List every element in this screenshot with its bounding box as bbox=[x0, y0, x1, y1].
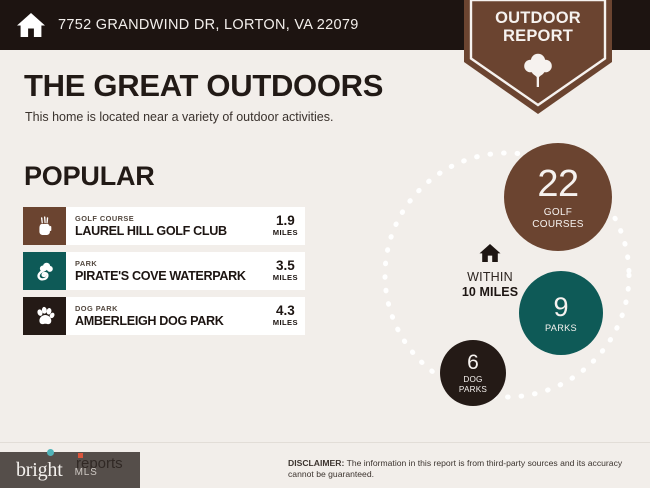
list-item-distance-unit: MILES bbox=[273, 318, 298, 328]
list-item-icon-box bbox=[23, 297, 66, 335]
footer-divider bbox=[0, 442, 650, 443]
list-item-distance-value: 4.3 bbox=[273, 304, 298, 318]
list-item-distance-value: 3.5 bbox=[273, 259, 298, 273]
list-item[interactable]: GOLF COURSE LAUREL HILL GOLF CLUB 1.9 MI… bbox=[23, 207, 305, 245]
golf-bag-icon bbox=[34, 215, 56, 237]
list-item-category: PARK bbox=[75, 259, 270, 269]
popular-list: GOLF COURSE LAUREL HILL GOLF CLUB 1.9 MI… bbox=[23, 207, 305, 342]
list-item-distance: 4.3 MILES bbox=[270, 304, 298, 328]
stat-count: 6 bbox=[467, 352, 479, 374]
stat-label: PARKS bbox=[545, 323, 577, 334]
stat-label-line1: DOG bbox=[459, 375, 487, 385]
home-icon bbox=[479, 243, 501, 263]
logo-suffix: MLS bbox=[75, 467, 98, 478]
list-item-category: DOG PARK bbox=[75, 304, 270, 314]
list-item-distance: 3.5 MILES bbox=[270, 259, 298, 283]
stat-label: GOLF COURSES bbox=[532, 207, 584, 231]
list-item-icon-box bbox=[23, 207, 66, 245]
logo-wordmark: bright bbox=[16, 459, 63, 482]
disclaimer-label: DISCLAIMER: bbox=[288, 458, 344, 468]
list-item-distance-value: 1.9 bbox=[273, 214, 298, 228]
stat-count: 9 bbox=[553, 293, 568, 321]
stat-label: DOG PARKS bbox=[459, 375, 487, 394]
logo-trademark-icon bbox=[78, 453, 83, 458]
list-item-name: AMBERLEIGH DOG PARK bbox=[75, 314, 270, 329]
list-item-distance-unit: MILES bbox=[273, 273, 298, 283]
stat-bubble-dog-parks[interactable]: 6 DOG PARKS bbox=[440, 340, 506, 406]
outdoor-report-badge: OUTDOOR REPORT bbox=[462, 0, 614, 116]
list-item-body: DOG PARK AMBERLEIGH DOG PARK 4.3 MILES bbox=[66, 297, 305, 335]
stat-label-line1: PARKS bbox=[545, 323, 577, 334]
stat-bubble-golf-courses[interactable]: 22 GOLF COURSES bbox=[504, 143, 612, 251]
list-item-name: PIRATE'S COVE WATERPARK bbox=[75, 269, 270, 284]
page-title: THE GREAT OUTDOORS bbox=[24, 68, 383, 104]
park-tree-icon bbox=[34, 260, 56, 282]
list-item[interactable]: DOG PARK AMBERLEIGH DOG PARK 4.3 MILES bbox=[23, 297, 305, 335]
logo-dot-icon bbox=[47, 449, 54, 456]
list-item-name: LAUREL HILL GOLF CLUB bbox=[75, 224, 270, 239]
home-icon bbox=[16, 11, 46, 39]
stat-count: 22 bbox=[537, 164, 578, 204]
stat-label-line2: PARKS bbox=[459, 385, 487, 395]
list-item-distance: 1.9 MILES bbox=[270, 214, 298, 238]
list-item[interactable]: PARK PIRATE'S COVE WATERPARK 3.5 MILES bbox=[23, 252, 305, 290]
property-address: 7752 GRANDWIND DR, LORTON, VA 22079 bbox=[58, 17, 359, 33]
list-item-category: GOLF COURSE bbox=[75, 214, 270, 224]
section-title-popular: POPULAR bbox=[24, 161, 155, 192]
disclaimer: DISCLAIMER: The information in this repo… bbox=[288, 458, 640, 480]
list-item-body: PARK PIRATE'S COVE WATERPARK 3.5 MILES bbox=[66, 252, 305, 290]
paw-print-icon bbox=[34, 305, 56, 327]
page-subtitle: This home is located near a variety of o… bbox=[25, 110, 333, 124]
stat-bubble-parks[interactable]: 9 PARKS bbox=[519, 271, 603, 355]
proximity-diagram: WITHIN 10 MILES 22 GOLF COURSES 9 PARKS … bbox=[380, 125, 650, 425]
list-item-body: GOLF COURSE LAUREL HILL GOLF CLUB 1.9 MI… bbox=[66, 207, 305, 245]
badge-shield-shape bbox=[462, 0, 614, 116]
stat-label-line2: COURSES bbox=[532, 219, 584, 231]
list-item-icon-box bbox=[23, 252, 66, 290]
brightmls-logo[interactable]: bright MLS bbox=[0, 452, 140, 488]
stat-label-line1: GOLF bbox=[532, 207, 584, 219]
list-item-distance-unit: MILES bbox=[273, 228, 298, 238]
